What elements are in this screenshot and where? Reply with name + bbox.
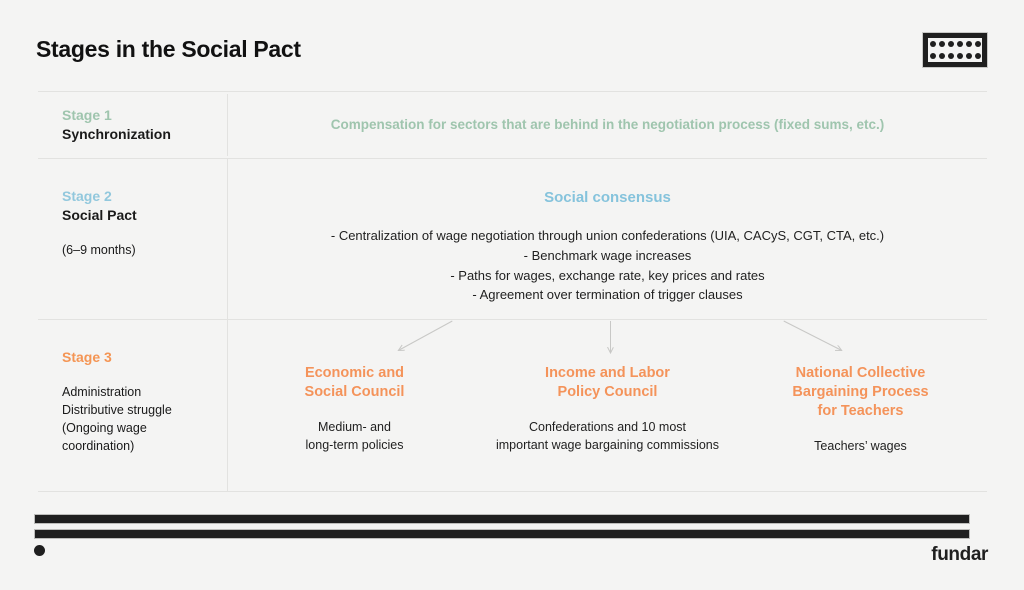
- stage-3-kicker: Stage 3: [62, 348, 227, 367]
- stage-1-label-cell: Stage 1 Synchronization: [38, 94, 228, 156]
- stage-1-name: Synchronization: [62, 125, 227, 144]
- stage-2-bullet: - Paths for wages, exchange rate, key pr…: [244, 266, 971, 286]
- logo-dot: [939, 53, 945, 59]
- column-description: Confederations and 10 most important wag…: [491, 418, 724, 454]
- stage-3-column-national-collective-bargaining-teachers: National Collective Bargaining Process f…: [734, 364, 987, 491]
- footer-rule-bottom: [34, 529, 970, 539]
- logo-dot: [966, 53, 972, 59]
- logo-dot: [975, 41, 981, 47]
- stage-2-bullet: - Agreement over termination of trigger …: [244, 285, 971, 305]
- logo-dot: [948, 53, 954, 59]
- column-description: Medium- and long-term policies: [238, 418, 471, 454]
- stage-2-kicker: Stage 2: [62, 187, 227, 206]
- stage-3-label-cell: Stage 3 Administration Distributive stru…: [38, 320, 228, 491]
- stage-1-content-text: Compensation for sectors that are behind…: [244, 116, 971, 135]
- table-row-stage-2: Stage 2 Social Pact (6–9 months) Social …: [38, 159, 987, 320]
- stage-2-name: Social Pact: [62, 206, 227, 225]
- stages-table: Stage 1 Synchronization Compensation for…: [38, 91, 987, 492]
- diagram-canvas: Stages in the Social Pact Stage 1 Synchr…: [0, 0, 1024, 590]
- stage-3-column-income-labor-policy-council: Income and Labor Policy Council Confeder…: [481, 364, 734, 491]
- stage-3-description: Administration Distributive struggle (On…: [62, 383, 227, 456]
- logo-dot: [939, 41, 945, 47]
- logo-dot: [966, 41, 972, 47]
- stage-2-duration: (6–9 months): [62, 241, 227, 259]
- logo-dot: [948, 41, 954, 47]
- column-title: Income and Labor Policy Council: [491, 364, 724, 402]
- logo-dot-grid: [928, 38, 982, 62]
- table-row-stage-1: Stage 1 Synchronization Compensation for…: [38, 92, 987, 159]
- footer-rule-top: [34, 514, 970, 524]
- stage-2-bullet: - Centralization of wage negotiation thr…: [244, 226, 971, 246]
- stage-1-content-cell: Compensation for sectors that are behind…: [228, 102, 987, 149]
- fundar-dot-grid-logo: [922, 32, 988, 68]
- stage-1-kicker: Stage 1: [62, 106, 227, 125]
- logo-dot: [975, 53, 981, 59]
- logo-dot: [930, 41, 936, 47]
- footer-dot: [34, 545, 45, 556]
- column-description: Teachers’ wages: [744, 437, 977, 455]
- stage-2-label-cell: Stage 2 Social Pact (6–9 months): [38, 159, 228, 319]
- stage-2-bullet-list: - Centralization of wage negotiation thr…: [244, 226, 971, 305]
- stage-2-bullet: - Benchmark wage increases: [244, 246, 971, 266]
- stage-3-content-cell: Economic and Social Council Medium- and …: [228, 320, 987, 491]
- logo-dot: [957, 41, 963, 47]
- column-title: Economic and Social Council: [238, 364, 471, 402]
- stage-2-heading: Social consensus: [244, 189, 971, 206]
- page-title: Stages in the Social Pact: [36, 36, 301, 63]
- logo-dot: [930, 53, 936, 59]
- stage-3-column-economic-social-council: Economic and Social Council Medium- and …: [228, 364, 481, 491]
- stage-3-columns: Economic and Social Council Medium- and …: [228, 320, 987, 491]
- fundar-wordmark: fundar: [931, 544, 988, 566]
- stage-2-content-cell: Social consensus - Centralization of wag…: [228, 159, 987, 319]
- column-title: National Collective Bargaining Process f…: [744, 364, 977, 421]
- logo-dot: [957, 53, 963, 59]
- table-row-stage-3: Stage 3 Administration Distributive stru…: [38, 320, 987, 492]
